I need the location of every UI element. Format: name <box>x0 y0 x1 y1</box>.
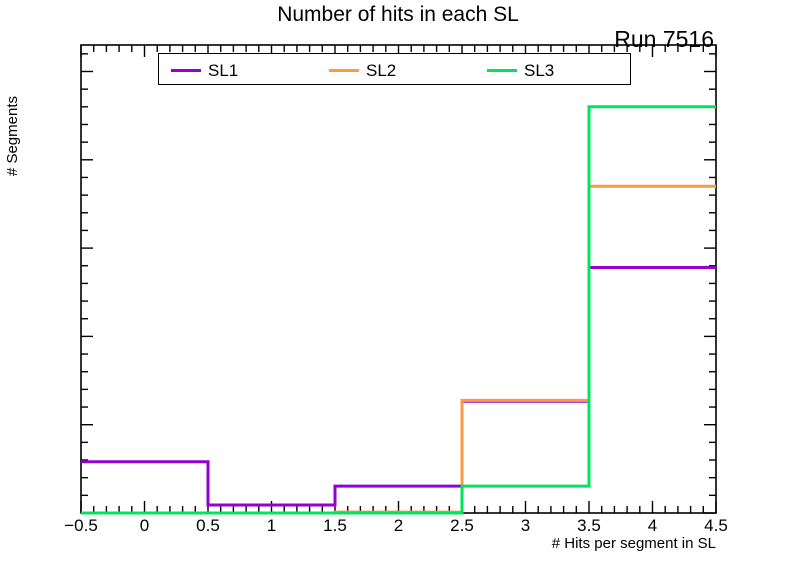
legend-label: SL2 <box>366 62 396 79</box>
x-tick-label: 1 <box>267 517 276 534</box>
axis-tick-marks <box>81 45 716 513</box>
x-tick-label: 0 <box>140 517 149 534</box>
legend-swatch-sl1 <box>171 69 201 72</box>
x-tick-label: 4.5 <box>704 517 728 534</box>
x-tick-label: 2.5 <box>450 517 474 534</box>
histogram-series-sl2 <box>81 186 716 513</box>
root-canvas: Number of hits in each SL Run 7516 # Seg… <box>0 0 796 572</box>
legend-entry-sl3: SL3 <box>487 54 554 86</box>
plot-frame-box <box>81 45 716 513</box>
x-tick-label: 3 <box>521 517 530 534</box>
legend-label: SL1 <box>208 62 238 79</box>
histogram-plot <box>0 0 796 572</box>
x-tick-label: 1.5 <box>323 517 347 534</box>
legend-swatch-sl3 <box>487 69 517 72</box>
legend-swatch-sl2 <box>329 69 359 72</box>
x-tick-label: 0.5 <box>196 517 220 534</box>
legend: SL1SL2SL3 <box>158 53 631 85</box>
x-tick-label: 4 <box>648 517 657 534</box>
axis-frame <box>81 45 716 513</box>
histogram-series-sl1 <box>81 268 716 506</box>
legend-entry-sl2: SL2 <box>329 54 396 86</box>
x-tick-label: 2 <box>394 517 403 534</box>
series-layer <box>81 107 716 513</box>
histogram-series-sl3 <box>81 107 716 513</box>
x-tick-label: 3.5 <box>577 517 601 534</box>
legend-entry-sl1: SL1 <box>171 54 238 86</box>
legend-label: SL3 <box>524 62 554 79</box>
x-tick-label: −0.5 <box>64 517 98 534</box>
